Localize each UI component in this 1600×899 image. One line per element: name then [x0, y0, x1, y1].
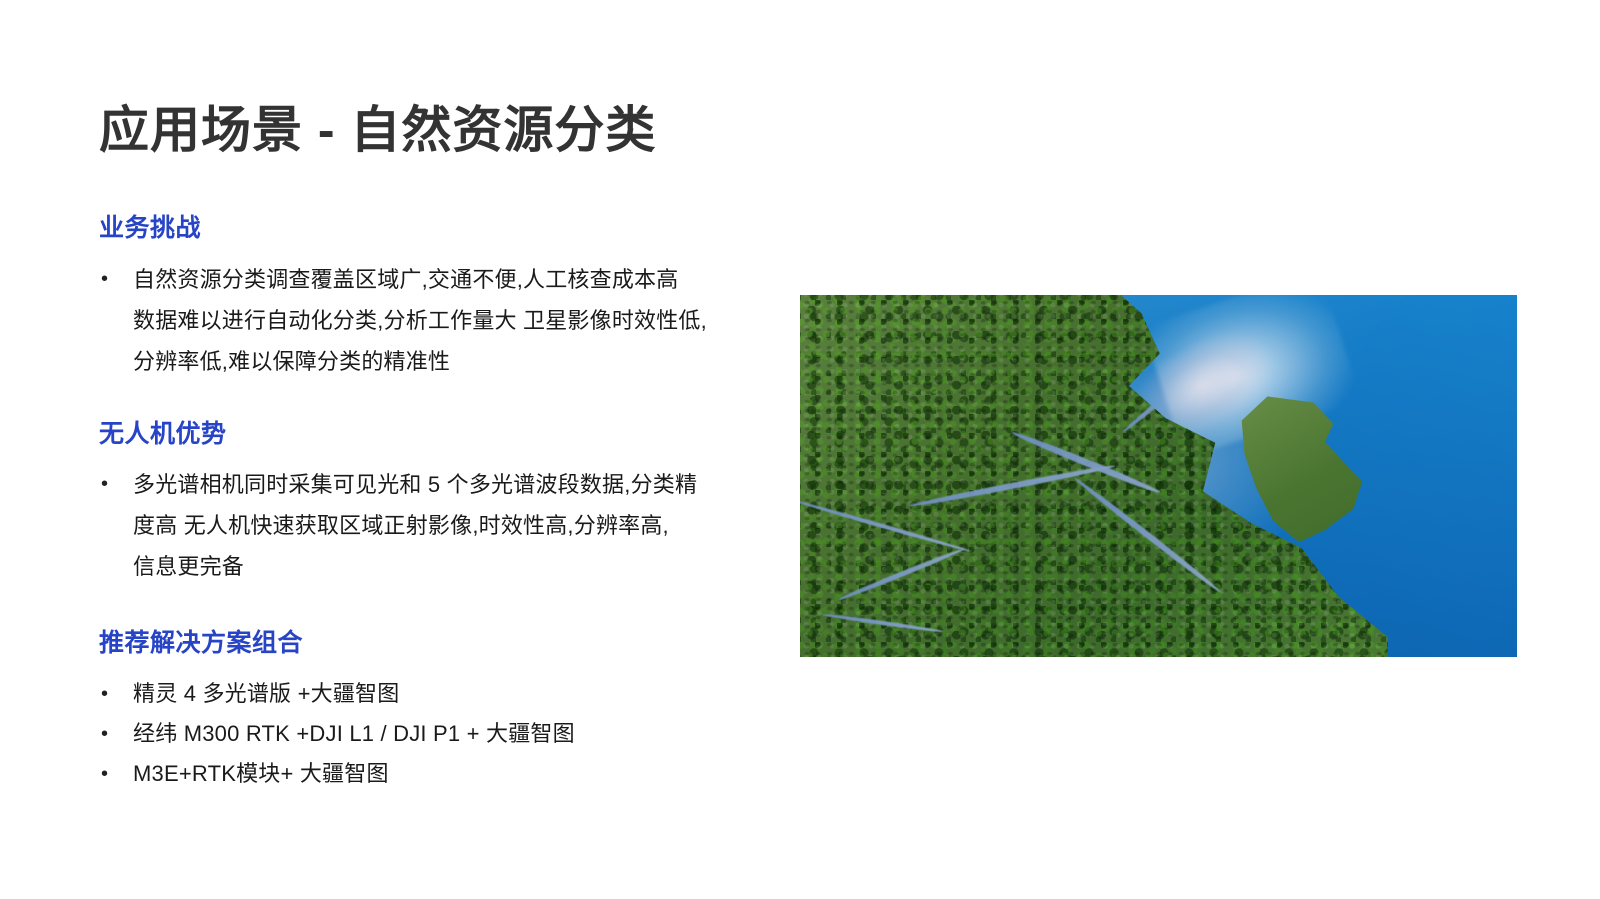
- bullet-marker-icon: •: [99, 464, 133, 505]
- list-item: • 自然资源分类调查覆盖区域广,交通不便,人工核查成本高 数据难以进行自动化分类…: [99, 259, 779, 382]
- bullet-marker-icon: •: [99, 714, 133, 754]
- bullet-line: 自然资源分类调查覆盖区域广,交通不便,人工核查成本高: [133, 259, 779, 300]
- bullet-line: 多光谱相机同时采集可见光和 5 个多光谱波段数据,分类精: [133, 464, 779, 505]
- photo-canvas: [800, 295, 1517, 657]
- solution-item-label: 经纬 M300 RTK +DJI L1 / DJI P1 + 大疆智图: [133, 714, 575, 754]
- bullet-text-block: 多光谱相机同时采集可见光和 5 个多光谱波段数据,分类精 度高 无人机快速获取区…: [133, 464, 779, 587]
- section-drone-advantage: 无人机优势 • 多光谱相机同时采集可见光和 5 个多光谱波段数据,分类精 度高 …: [99, 418, 779, 588]
- slide-root: 应用场景 - 自然资源分类 业务挑战 • 自然资源分类调查覆盖区域广,交通不便,…: [0, 0, 1600, 899]
- section-heading-business-challenge: 业务挑战: [99, 212, 779, 245]
- aerial-mangrove-coastline-photo: [800, 295, 1517, 657]
- section-recommended-solutions: 推荐解决方案组合 • 精灵 4 多光谱版 +大疆智图 • 经纬 M300 RTK…: [99, 627, 779, 794]
- list-item: • 经纬 M300 RTK +DJI L1 / DJI P1 + 大疆智图: [99, 714, 779, 754]
- list-item: • 精灵 4 多光谱版 +大疆智图: [99, 674, 779, 714]
- solution-item-label: 精灵 4 多光谱版 +大疆智图: [133, 674, 399, 714]
- section-heading-drone-advantage: 无人机优势: [99, 418, 779, 451]
- content-column: 业务挑战 • 自然资源分类调查覆盖区域广,交通不便,人工核查成本高 数据难以进行…: [99, 212, 779, 794]
- solution-item-label: M3E+RTK模块+ 大疆智图: [133, 754, 389, 794]
- list-item: • M3E+RTK模块+ 大疆智图: [99, 754, 779, 794]
- bullet-line: 度高 无人机快速获取区域正射影像,时效性高,分辨率高,: [133, 505, 779, 546]
- bullet-marker-icon: •: [99, 259, 133, 300]
- bullet-line: 分辨率低,难以保障分类的精准性: [133, 341, 779, 382]
- section-heading-recommended-solutions: 推荐解决方案组合: [99, 627, 779, 660]
- bullet-marker-icon: •: [99, 754, 133, 794]
- bullet-text-block: 自然资源分类调查覆盖区域广,交通不便,人工核查成本高 数据难以进行自动化分类,分…: [133, 259, 779, 382]
- bullet-marker-icon: •: [99, 674, 133, 714]
- bullet-line: 信息更完备: [133, 546, 779, 587]
- bullet-line: 数据难以进行自动化分类,分析工作量大 卫星影像时效性低,: [133, 300, 779, 341]
- page-title: 应用场景 - 自然资源分类: [99, 100, 656, 160]
- list-item: • 多光谱相机同时采集可见光和 5 个多光谱波段数据,分类精 度高 无人机快速获…: [99, 464, 779, 587]
- section-business-challenge: 业务挑战 • 自然资源分类调查覆盖区域广,交通不便,人工核查成本高 数据难以进行…: [99, 212, 779, 382]
